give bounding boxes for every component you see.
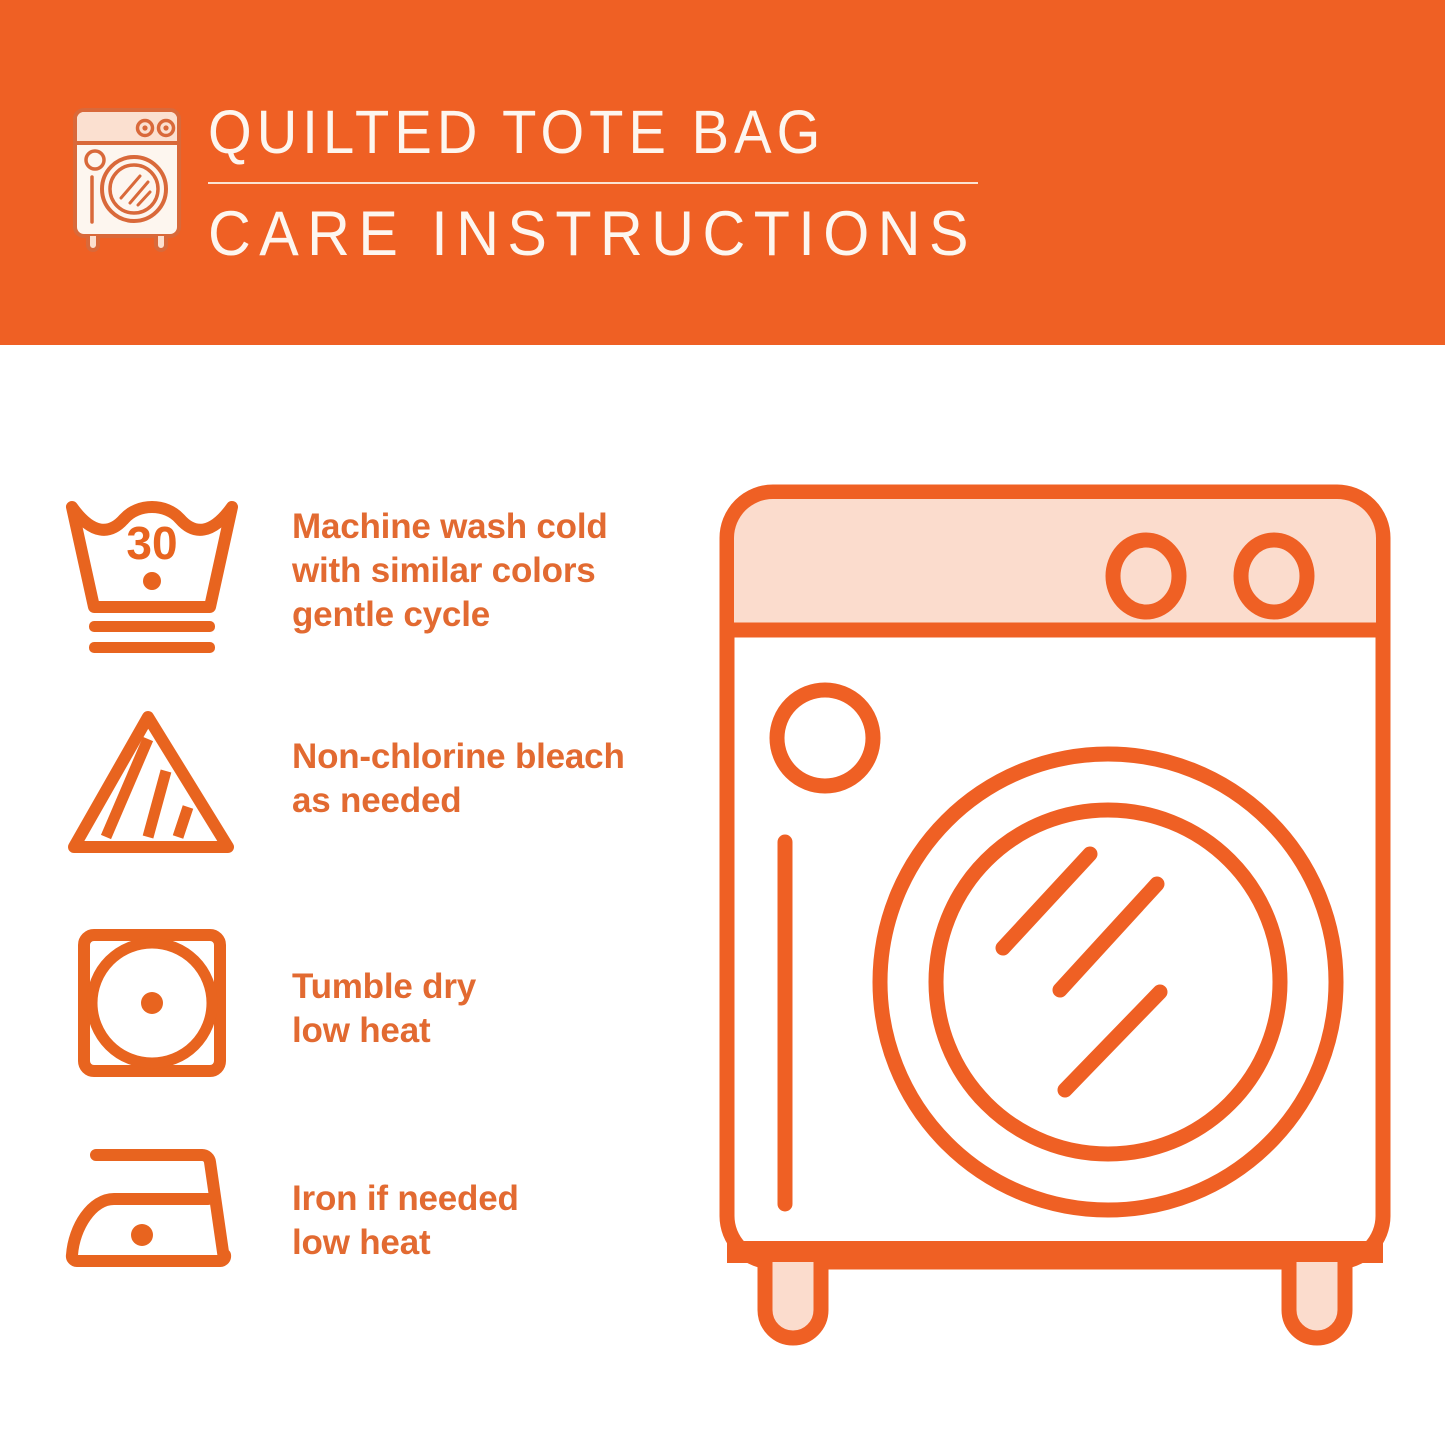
care-label-machine-wash: Machine wash cold with similar colors ge… <box>292 505 608 637</box>
non-chlorine-bleach-triangle-icon <box>62 705 242 880</box>
care-instruction-list: 30 Machine wash cold with similar colors… <box>0 345 700 1445</box>
care-label-bleach: Non-chlorine bleach as needed <box>292 735 625 823</box>
care-row-bleach: Non-chlorine bleach as needed <box>0 705 700 905</box>
machine-leg <box>765 1262 821 1338</box>
tumble-dry-low-heat-icon <box>62 923 242 1098</box>
page-subtitle: CARE INSTRUCTIONS <box>208 196 1157 272</box>
care-label-tumble-dry: Tumble dry low heat <box>292 965 476 1053</box>
iron-low-heat-icon <box>62 1135 242 1310</box>
header-banner: QUILTED TOTE BAG CARE INSTRUCTIONS <box>0 0 1445 345</box>
care-row-tumble-dry: Tumble dry low heat <box>0 923 700 1123</box>
care-row-machine-wash: 30 Machine wash cold with similar colors… <box>0 495 700 695</box>
wash-tub-30-gentle-icon: 30 <box>62 495 242 670</box>
front-load-washing-machine-illustration <box>705 470 1405 1390</box>
title-divider <box>208 182 978 184</box>
wash-temperature-value: 30 <box>126 517 177 569</box>
header-title-block: QUILTED TOTE BAG <box>208 96 1208 168</box>
header-subtitle-block: CARE INSTRUCTIONS <box>208 196 1218 272</box>
care-label-iron: Iron if needed low heat <box>292 1177 519 1265</box>
page-title: QUILTED TOTE BAG <box>208 96 1128 168</box>
washing-machine-icon <box>66 104 188 252</box>
care-row-iron: Iron if needed low heat <box>0 1135 700 1335</box>
machine-leg <box>1289 1262 1345 1338</box>
